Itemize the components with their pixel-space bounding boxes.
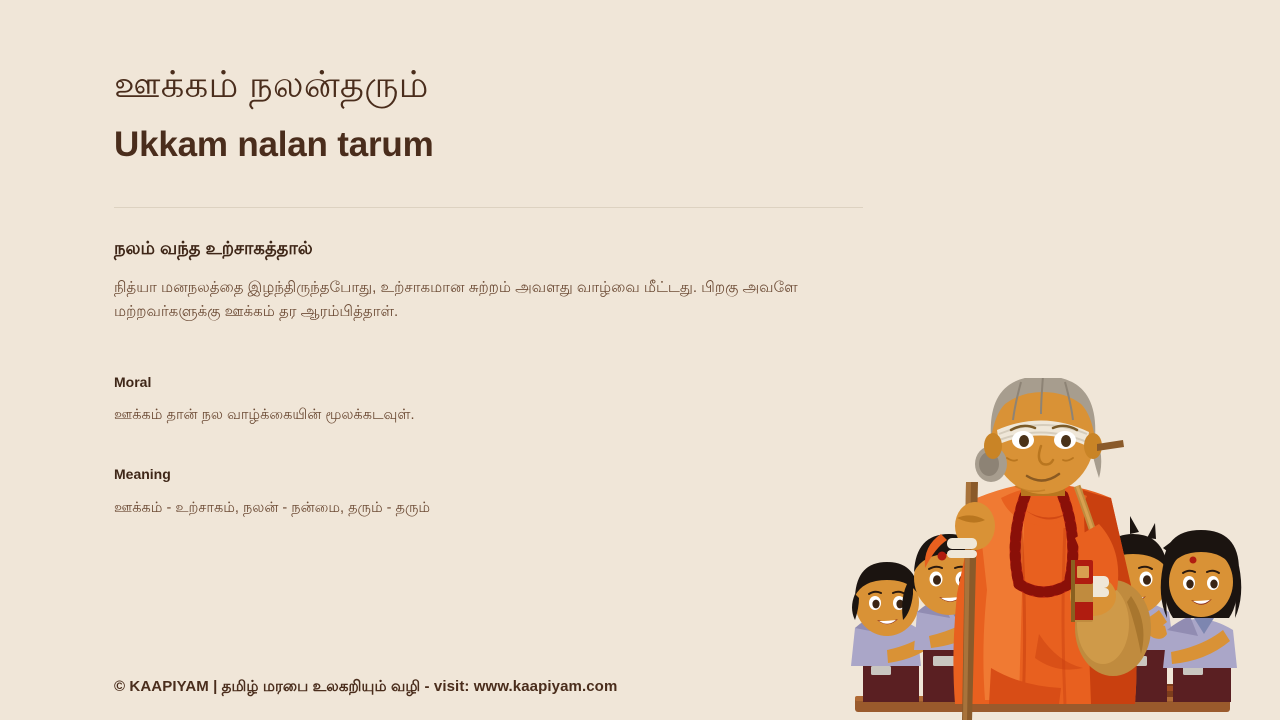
header-divider — [114, 207, 863, 208]
meaning-label: Meaning — [114, 465, 864, 485]
page-title-romanized: Ukkam nalan tarum — [114, 122, 864, 168]
elderly-woman-figure — [925, 378, 1151, 720]
meaning-block: Meaning ஊக்கம் - உற்சாகம், நலன் - நன்மை,… — [114, 465, 864, 520]
moral-block: Moral ஊக்கம் தான் நல வாழ்க்கையின் மூலக்க… — [114, 373, 864, 428]
slide-canvas: ஊக்கம் நலன்தரும் Ukkam nalan tarum நலம் … — [0, 0, 1280, 720]
moral-text: ஊக்கம் தான் நல வாழ்க்கையின் மூலக்கடவுள். — [114, 404, 864, 427]
text-column: ஊக்கம் நலன்தரும் Ukkam nalan tarum நலம் … — [114, 62, 864, 520]
story-heading: நலம் வந்த உற்சாகத்தால் — [114, 236, 864, 261]
elderly-woman-with-children-illustration — [825, 378, 1260, 720]
footer-credit: © KAAPIYAM | தமிழ் மரபை உலகறியும் வழி - … — [114, 678, 617, 697]
story-paragraph: நித்யா மனநலத்தை இழந்திருந்தபோது, உற்சாகம… — [114, 276, 844, 325]
meaning-text: ஊக்கம் - உற்சாகம், நலன் - நன்மை, தரும் -… — [114, 497, 864, 520]
page-title-tamil: ஊக்கம் நலன்தரும் — [114, 62, 864, 108]
moral-label: Moral — [114, 373, 864, 393]
